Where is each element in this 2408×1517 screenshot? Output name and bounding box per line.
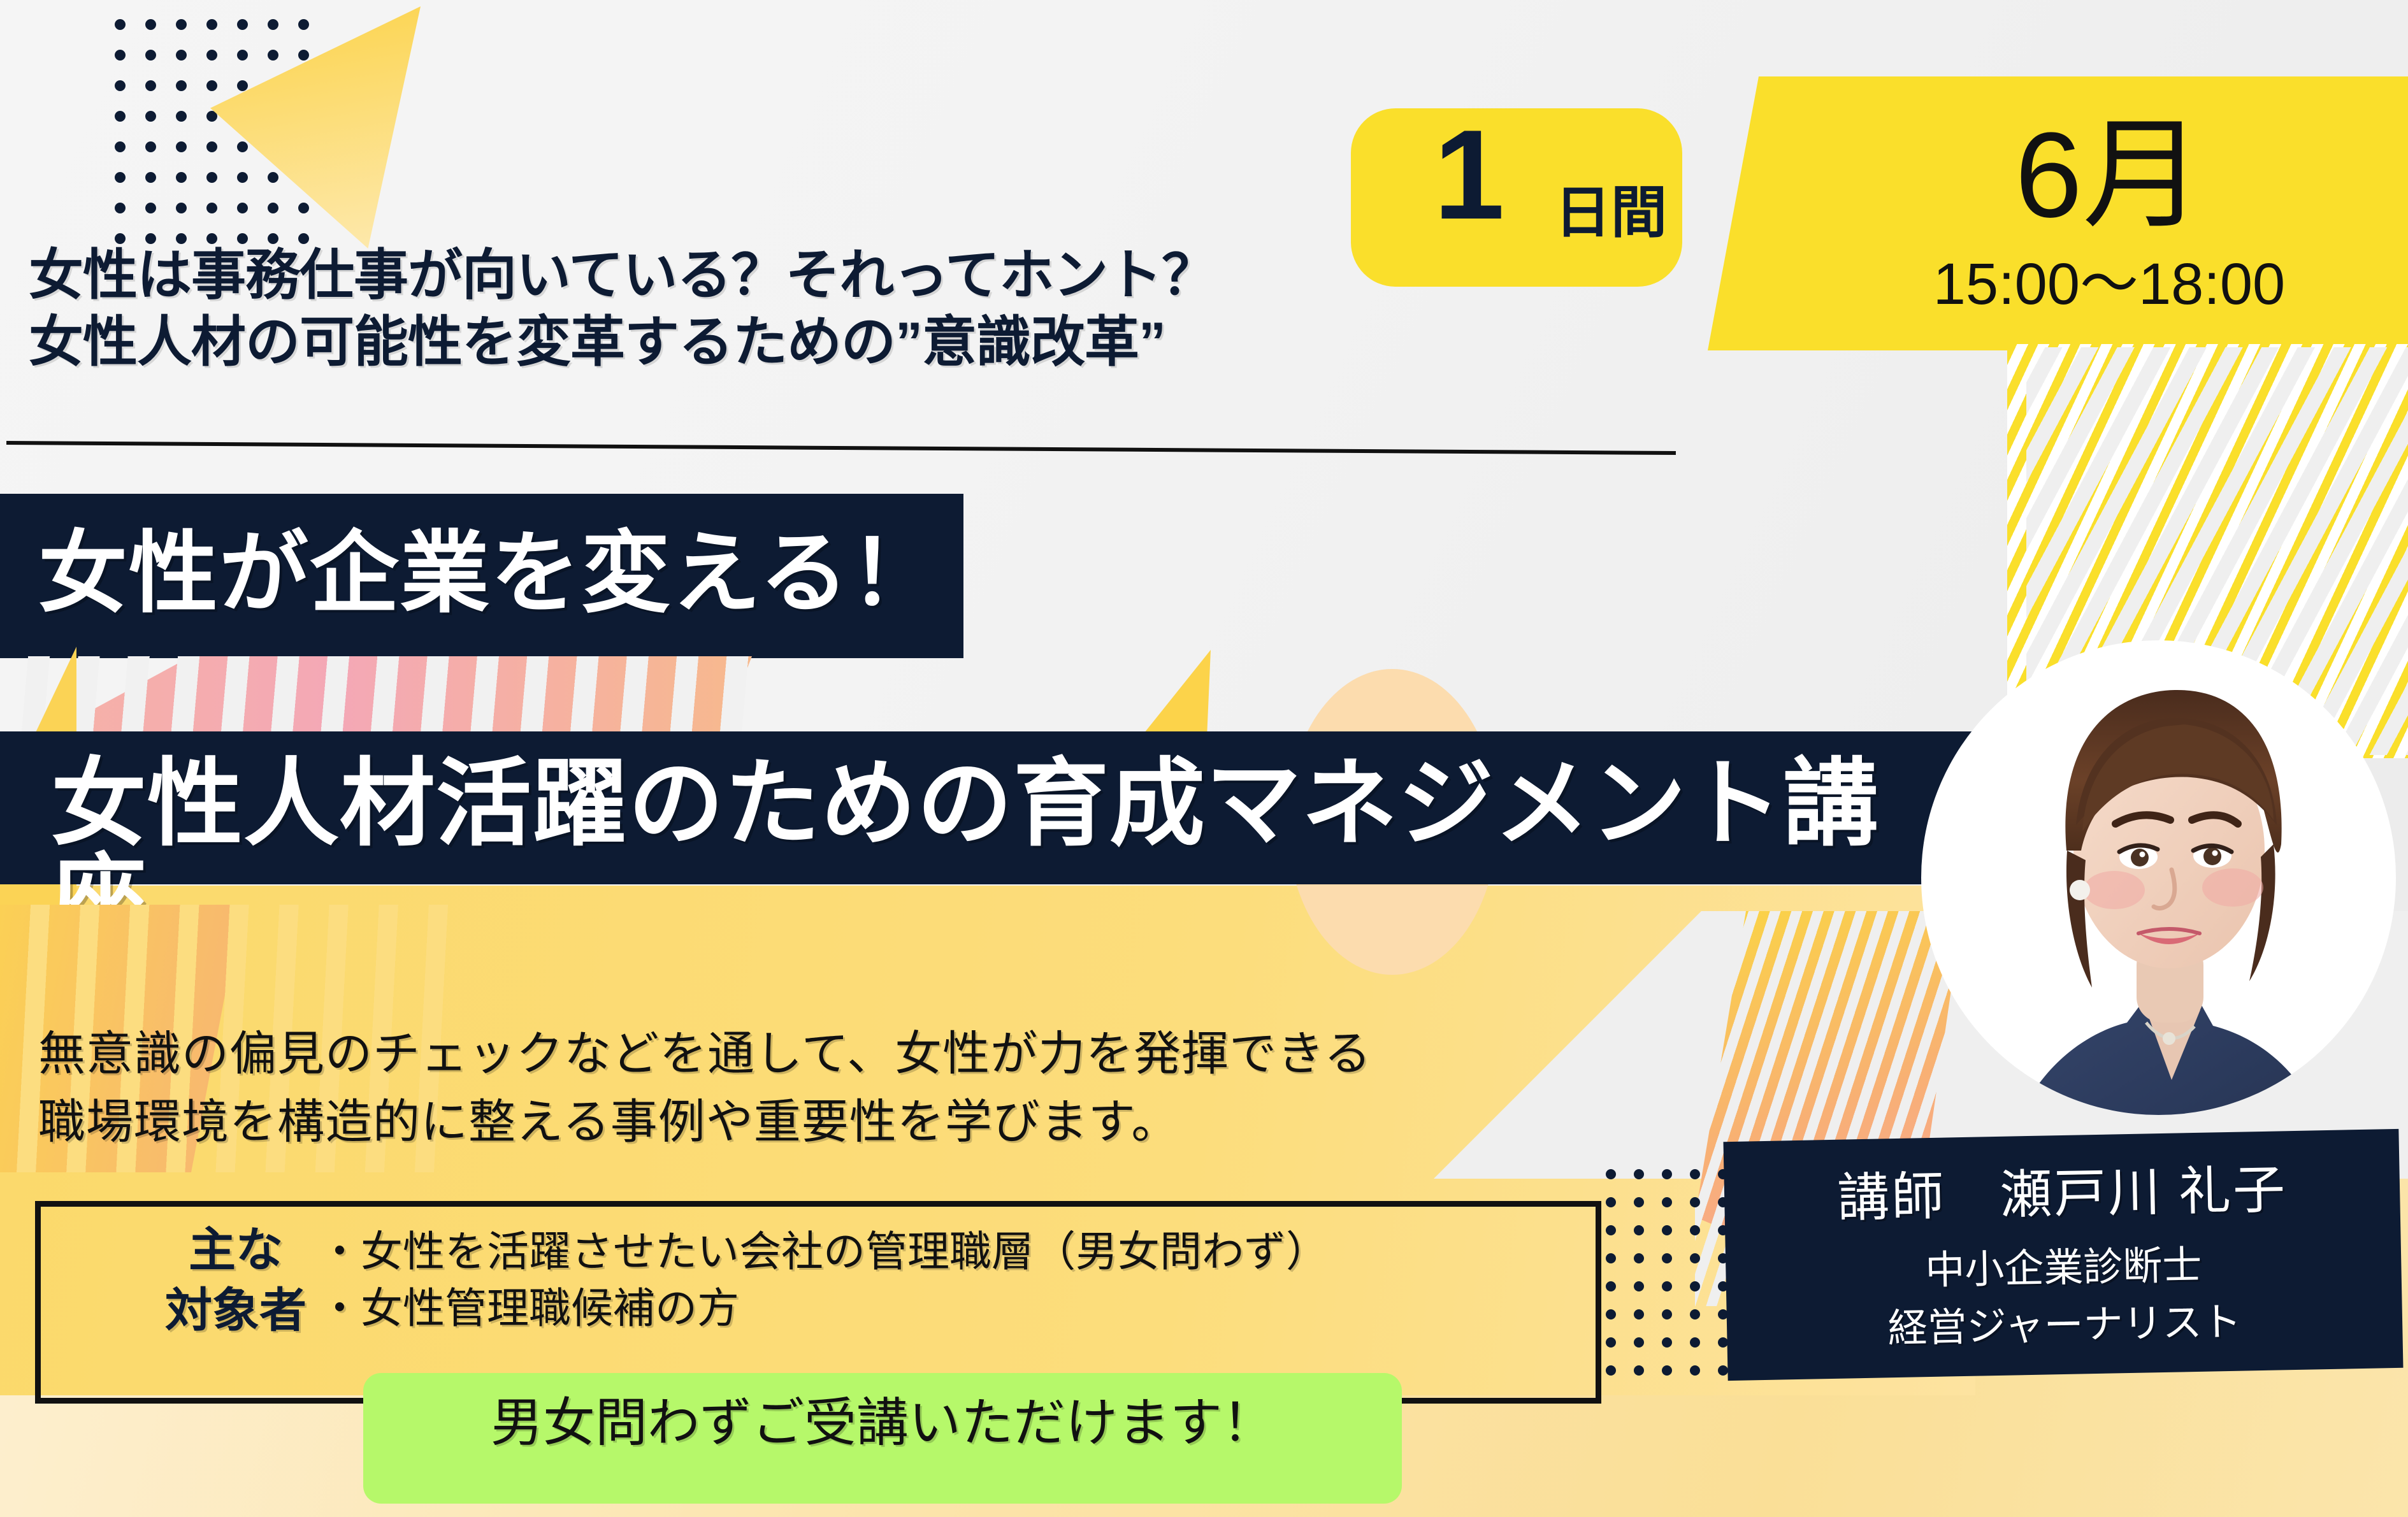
dot bbox=[1606, 1337, 1616, 1348]
dot bbox=[268, 203, 278, 213]
dot bbox=[1634, 1337, 1644, 1348]
instructor-portrait-illustration bbox=[1955, 640, 2363, 1115]
dot bbox=[115, 172, 126, 183]
dot bbox=[1662, 1169, 1672, 1179]
dot bbox=[268, 172, 278, 183]
dot bbox=[145, 141, 156, 152]
instructor-info-box: 講師 瀬戸川 礼子 中小企業診断士 経営ジャーナリスト bbox=[1723, 1129, 2403, 1381]
dot bbox=[176, 50, 187, 61]
dot bbox=[176, 141, 187, 152]
dot bbox=[1634, 1281, 1644, 1291]
month-label: 6月 bbox=[1886, 115, 2332, 236]
dot bbox=[237, 141, 248, 152]
striped-band-coral-mask bbox=[0, 656, 752, 739]
title-bar: 女性人材活躍のための育成マネジメント講座 bbox=[0, 731, 1972, 884]
dot bbox=[1662, 1281, 1672, 1291]
dot bbox=[1690, 1309, 1700, 1319]
dot bbox=[115, 111, 126, 122]
dot bbox=[206, 50, 217, 61]
dot bbox=[237, 80, 248, 91]
dot bbox=[115, 203, 126, 213]
target-audience-list: ・女性を活躍させたい会社の管理職層（男女問わず） ・女性管理職候補の方 bbox=[319, 1223, 1580, 1337]
dot bbox=[1662, 1225, 1672, 1235]
dot bbox=[298, 19, 309, 30]
dot bbox=[1634, 1365, 1644, 1376]
dot bbox=[1606, 1225, 1616, 1235]
instructor-name: 講師 瀬戸川 礼子 bbox=[1724, 1162, 2400, 1227]
dot bbox=[115, 50, 126, 61]
dot bbox=[298, 203, 309, 213]
headline: 女性は事務仕事が向いている？それってホント？ 女性人材の可能性を変革するための”… bbox=[29, 242, 1558, 376]
dot bbox=[145, 203, 156, 213]
dot bbox=[145, 80, 156, 91]
dot bbox=[1634, 1309, 1644, 1319]
dot bbox=[1606, 1365, 1616, 1376]
dot bbox=[237, 172, 248, 183]
duration-unit-label: 日間 bbox=[1555, 185, 1667, 241]
description-line-1: 無意識の偏見のチェックなどを通して、女性が力を発揮できる bbox=[38, 1019, 1644, 1088]
dot bbox=[1662, 1197, 1672, 1207]
dot bbox=[145, 19, 156, 30]
list-item: ・女性を活躍させたい会社の管理職層（男女問わず） bbox=[319, 1223, 1580, 1280]
dot bbox=[1662, 1337, 1672, 1348]
dot bbox=[1690, 1337, 1700, 1348]
dot bbox=[1634, 1197, 1644, 1207]
dot bbox=[145, 172, 156, 183]
description: 無意識の偏見のチェックなどを通して、女性が力を発揮できる 職場環境を構造的に整え… bbox=[38, 1019, 1644, 1156]
dot bbox=[1606, 1309, 1616, 1319]
subtitle-bar-text: 女性が企業を変える！ bbox=[38, 529, 941, 618]
headline-line-1: 女性は事務仕事が向いている？それってホント？ bbox=[29, 242, 1558, 309]
headline-line-2: 女性人材の可能性を変革するための”意識改革” bbox=[29, 309, 1558, 376]
dot-grid-bottom-right bbox=[1606, 1169, 1728, 1376]
instructor-role: 経営ジャーナリスト bbox=[1727, 1300, 2403, 1352]
dot bbox=[1690, 1225, 1700, 1235]
notice-badge: 男女問わずご受講いただけます！ bbox=[363, 1373, 1402, 1504]
dot bbox=[268, 50, 278, 61]
dot bbox=[145, 111, 156, 122]
notice-badge-text: 男女問わずご受講いただけます！ bbox=[491, 1397, 1274, 1449]
dot bbox=[206, 203, 217, 213]
dot bbox=[237, 50, 248, 61]
dot bbox=[1662, 1309, 1672, 1319]
dot bbox=[1634, 1169, 1644, 1179]
time-range-label: 15:00〜18:00 bbox=[1867, 255, 2351, 313]
dot bbox=[1606, 1169, 1616, 1179]
dot bbox=[298, 50, 309, 61]
dot bbox=[1634, 1253, 1644, 1263]
dot bbox=[145, 50, 156, 61]
dot bbox=[176, 203, 187, 213]
dot bbox=[115, 19, 126, 30]
instructor-qualification: 中小企業診断士 bbox=[1726, 1242, 2402, 1295]
duration-number: 1 bbox=[1434, 111, 1504, 239]
dot bbox=[176, 80, 187, 91]
dot bbox=[1606, 1253, 1616, 1263]
dot bbox=[1634, 1225, 1644, 1235]
dot bbox=[237, 203, 248, 213]
dot bbox=[176, 111, 187, 122]
dot bbox=[176, 172, 187, 183]
dot bbox=[1718, 1365, 1728, 1376]
list-item: ・女性管理職候補の方 bbox=[319, 1280, 1580, 1337]
dot bbox=[1690, 1197, 1700, 1207]
dot bbox=[115, 80, 126, 91]
dot bbox=[1606, 1197, 1616, 1207]
dot bbox=[206, 19, 217, 30]
dot bbox=[1690, 1253, 1700, 1263]
dot bbox=[1662, 1253, 1672, 1263]
dot bbox=[1690, 1169, 1700, 1179]
instructor-photo bbox=[1921, 640, 2396, 1115]
dot bbox=[1606, 1281, 1616, 1291]
dot bbox=[1690, 1365, 1700, 1376]
dot bbox=[268, 19, 278, 30]
dot bbox=[1662, 1365, 1672, 1376]
dot bbox=[237, 19, 248, 30]
subtitle-bar: 女性が企業を変える！ bbox=[0, 494, 963, 658]
description-line-2: 職場環境を構造的に整える事例や重要性を学びます。 bbox=[38, 1088, 1644, 1156]
dot bbox=[1690, 1281, 1700, 1291]
dot bbox=[206, 172, 217, 183]
dot bbox=[206, 80, 217, 91]
dot bbox=[176, 19, 187, 30]
dot bbox=[206, 141, 217, 152]
dot bbox=[115, 141, 126, 152]
seminar-poster: 6月 15:00〜18:00 1 日間 女性は事務仕事が向いている？それってホン… bbox=[0, 0, 2408, 1517]
